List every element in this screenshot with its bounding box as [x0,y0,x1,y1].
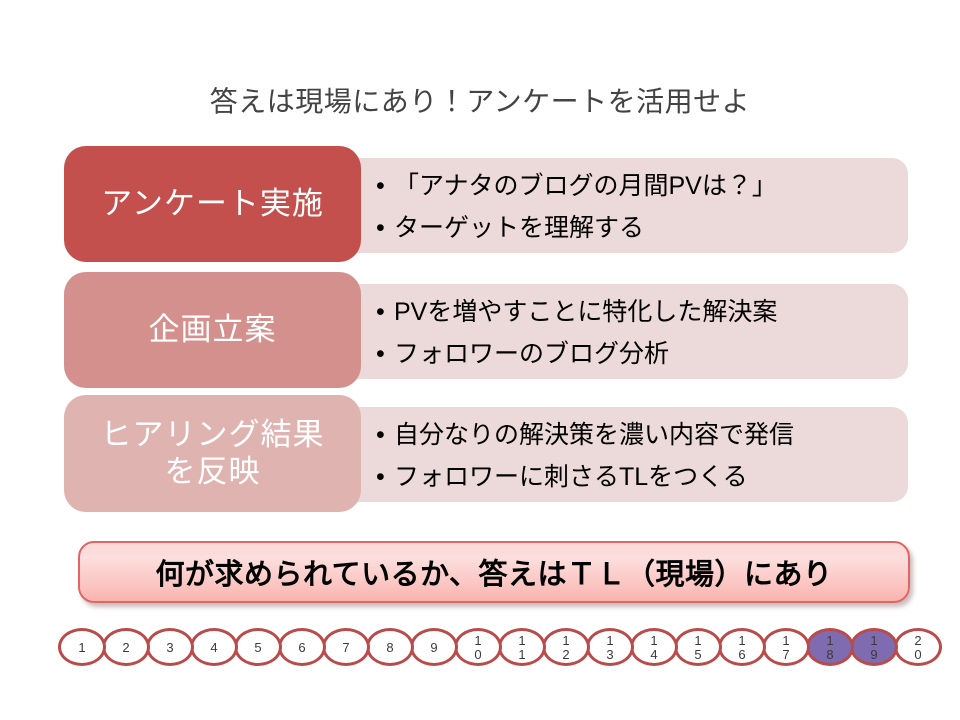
page-indicator-digit: 0 [474,648,481,661]
process-row-3-label-line-2: を反映 [165,454,261,489]
process-row-3-label[interactable]: ヒアリング結果 を反映 [64,395,361,512]
page-indicator-digit: 4 [650,648,657,661]
conclusion-banner-text: 何が求められているか、答えはＴＬ（現場）にあり [155,551,832,593]
page-indicator-digit: 6 [298,641,305,654]
page-indicator-17[interactable]: 17 [762,628,810,666]
page-indicator-digit: 8 [826,648,833,661]
bullet-text: PVを増やすことに特化した解決案 [394,297,777,328]
bullet-text: フォロワーのブログ分析 [394,339,669,370]
page-indicator-digit: 2 [122,641,129,654]
page-indicator-digit: 1 [870,634,877,647]
page-indicator-14[interactable]: 14 [630,628,678,666]
page-indicator-8[interactable]: 8 [366,628,414,666]
page-indicator-digit: 3 [606,648,613,661]
page-indicator-digit: 1 [474,634,481,647]
slide-canvas: 答えは現場にあり！アンケートを活用せよ • 「アナタのブログの月間PVは？」 •… [0,0,960,720]
bullet-text: 自分なりの解決策を濃い内容で発信 [394,420,794,451]
page-indicator-7[interactable]: 7 [322,628,370,666]
bullet-item: • PVを増やすことに特化した解決案 [376,297,906,328]
process-row-1-label-text: アンケート実施 [101,186,324,223]
page-indicator-digit: 9 [870,648,877,661]
page-indicator-digit: 1 [650,634,657,647]
page-indicator-16[interactable]: 16 [718,628,766,666]
page-indicator-18[interactable]: 18 [806,628,854,666]
page-indicator-12[interactable]: 12 [542,628,590,666]
process-row-2-label-text: 企画立案 [149,312,277,349]
bullet-marker-icon: • [376,216,394,241]
bullet-marker-icon: • [376,342,394,367]
process-row-3-label-text: ヒアリング結果 を反映 [101,417,325,490]
bullet-item: • フォロワーのブログ分析 [376,339,906,370]
bullet-text: 「アナタのブログの月間PVは？」 [394,171,777,202]
page-indicator-20[interactable]: 20 [894,628,942,666]
bullet-text: フォロワーに刺さるTLをつくる [394,462,748,493]
page-indicator-digit: 5 [254,641,261,654]
page-indicator-digit: 3 [166,641,173,654]
page-indicator-digit: 9 [430,641,437,654]
page-indicator-digit: 1 [606,634,613,647]
page-indicator-6[interactable]: 6 [278,628,326,666]
bullet-item: • 自分なりの解決策を濃い内容で発信 [376,420,906,451]
page-indicator-digit: 7 [342,641,349,654]
bullet-item: • フォロワーに刺さるTLをつくる [376,462,906,493]
process-row-1-bullets: • 「アナタのブログの月間PVは？」 • ターゲットを理解する [376,171,906,243]
page-indicator-3[interactable]: 3 [146,628,194,666]
page-indicator-5[interactable]: 5 [234,628,282,666]
process-row-1-label[interactable]: アンケート実施 [64,146,361,262]
page-indicator-digit: 2 [562,648,569,661]
page-indicator-digit: 8 [386,641,393,654]
page-indicator-digit: 5 [694,648,701,661]
page-indicator-19[interactable]: 19 [850,628,898,666]
page-indicator-1[interactable]: 1 [58,628,106,666]
page-indicator-digit: 1 [782,634,789,647]
page-indicator-digit: 1 [78,641,85,654]
page-indicator-digit: 1 [826,634,833,647]
bullet-marker-icon: • [376,300,394,325]
page-indicator-digit: 7 [782,648,789,661]
page-indicator-digit: 1 [694,634,701,647]
bullet-marker-icon: • [376,465,394,490]
page-indicator-digit: 1 [738,634,745,647]
page-indicator-15[interactable]: 15 [674,628,722,666]
bullet-marker-icon: • [376,423,394,448]
process-row-3-label-line-1: ヒアリング結果 [101,417,325,452]
page-title: 答えは現場にあり！アンケートを活用せよ [0,80,960,120]
page-indicator-digit: 0 [914,648,921,661]
page-indicator-10[interactable]: 10 [454,628,502,666]
process-row-3-bullets: • 自分なりの解決策を濃い内容で発信 • フォロワーに刺さるTLをつくる [376,420,906,492]
bullet-marker-icon: • [376,174,394,199]
page-indicator-strip: 1234567891011121314151617181920 [58,628,938,670]
page-indicator-13[interactable]: 13 [586,628,634,666]
page-indicator-digit: 4 [210,641,217,654]
page-indicator-digit: 1 [518,648,525,661]
page-indicator-4[interactable]: 4 [190,628,238,666]
page-indicator-digit: 1 [518,634,525,647]
process-row-2-bullets: • PVを増やすことに特化した解決案 • フォロワーのブログ分析 [376,297,906,369]
bullet-item: • ターゲットを理解する [376,213,906,244]
page-indicator-digit: 6 [738,648,745,661]
process-row-2-label[interactable]: 企画立案 [64,272,361,388]
bullet-text: ターゲットを理解する [394,213,644,244]
page-indicator-9[interactable]: 9 [410,628,458,666]
page-indicator-digit: 1 [562,634,569,647]
page-indicator-2[interactable]: 2 [102,628,150,666]
bullet-item: • 「アナタのブログの月間PVは？」 [376,171,906,202]
conclusion-banner[interactable]: 何が求められているか、答えはＴＬ（現場）にあり [78,541,910,603]
page-indicator-11[interactable]: 11 [498,628,546,666]
page-indicator-digit: 2 [914,634,921,647]
